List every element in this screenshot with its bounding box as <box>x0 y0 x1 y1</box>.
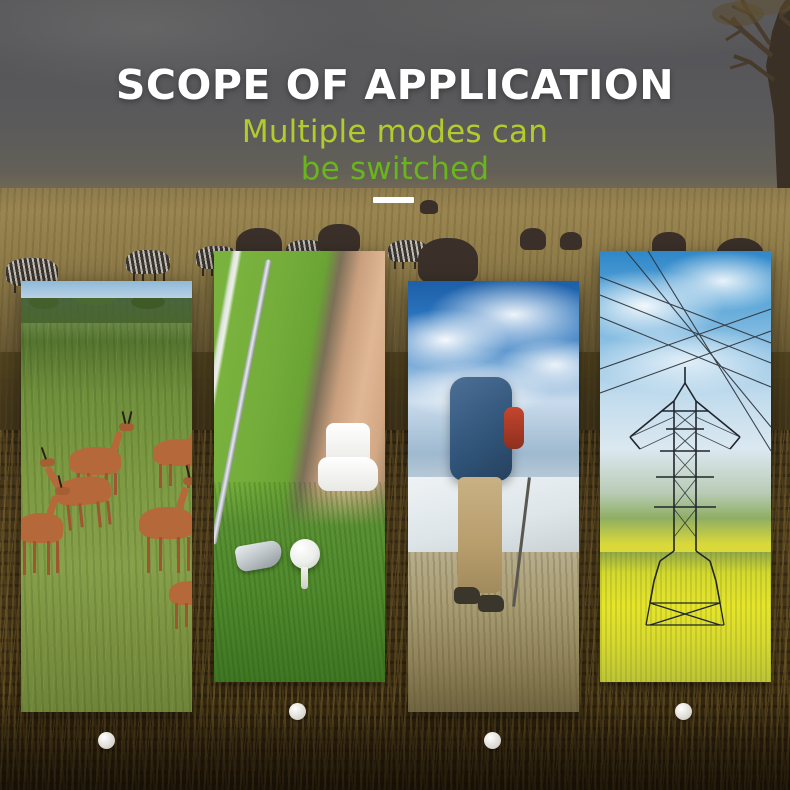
pagination-dot-2[interactable] <box>289 703 306 720</box>
wildebeest-silhouette <box>318 224 360 254</box>
golf-tee <box>301 567 308 589</box>
page-title: SCOPE OF APPLICATION <box>0 64 790 107</box>
hiking-backpack <box>450 377 512 481</box>
electric-power-photo <box>600 251 771 682</box>
golf-shoe <box>318 457 378 491</box>
golf-ball <box>290 539 320 569</box>
hiker-boot <box>454 587 480 604</box>
outdoor-photo <box>408 281 579 712</box>
pagination-dot-3[interactable] <box>484 732 501 749</box>
transmission-pylon-icon <box>600 251 771 682</box>
hiker-boot <box>478 595 504 612</box>
page-subtitle: Multiple modes can be switched <box>0 114 790 187</box>
wildebeest-silhouette <box>418 238 478 284</box>
mode-card-golf[interactable]: Golf <box>214 251 385 682</box>
zebra-silhouette <box>126 250 170 274</box>
antelope-silhouette <box>153 439 192 466</box>
wildebeest-silhouette <box>560 232 582 250</box>
antelope-silhouette <box>21 513 63 543</box>
antelope-silhouette <box>139 507 192 539</box>
wildebeest-silhouette <box>520 228 546 250</box>
golf-photo <box>214 251 385 682</box>
hunting-photo <box>21 281 192 712</box>
pagination-dot-4[interactable] <box>675 703 692 720</box>
mode-card-hunting[interactable]: Hunting <box>21 281 192 712</box>
hiker-pants <box>458 477 502 593</box>
backpack-red-pouch <box>504 407 524 449</box>
antelope-silhouette <box>69 447 121 475</box>
antelope-silhouette <box>169 581 192 605</box>
page-subtitle-line1: Multiple modes can <box>0 114 790 151</box>
wildebeest-silhouette <box>420 200 438 214</box>
mode-card-outdoor[interactable]: Outdoor <box>408 281 579 712</box>
title-divider <box>373 197 414 203</box>
pagination-dot-1[interactable] <box>98 732 115 749</box>
page-subtitle-line2: be switched <box>0 151 790 188</box>
mode-card-electric-power-survey[interactable]: Electric Power Survey <box>600 251 771 682</box>
